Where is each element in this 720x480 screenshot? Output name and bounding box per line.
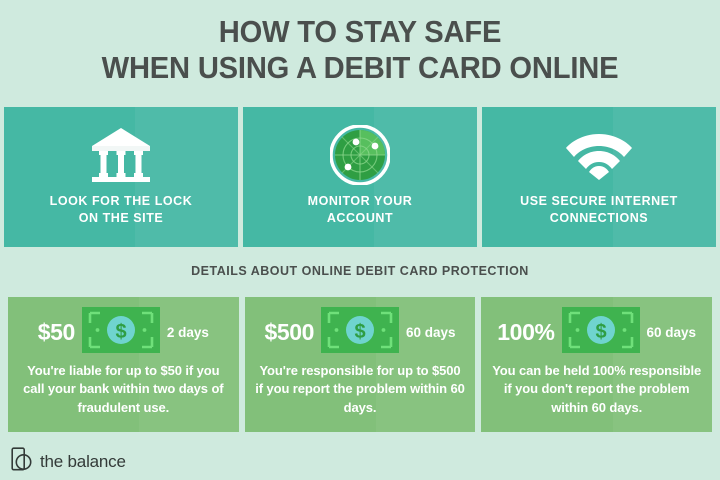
svg-text:$: $ <box>354 321 365 343</box>
tip-card-wifi-label: USE SECURE INTERNET CONNECTIONS <box>520 193 678 226</box>
detail-days: 60 days <box>647 325 697 340</box>
details-band: $50 $ 2 days You're lia <box>8 297 712 432</box>
detail-card-100: 100% $ 60 days You can <box>481 297 712 432</box>
dollar-bill-icon: $ <box>321 307 399 358</box>
the-balance-logo[interactable]: the balance <box>11 447 126 476</box>
dollar-bill-icon: $ <box>562 307 640 358</box>
title-line-1: HOW TO STAY SAFE <box>22 14 699 50</box>
detail-body-text: You're responsible for up to $500 if you… <box>255 362 466 417</box>
tip-label-line-1: USE SECURE INTERNET <box>520 193 678 210</box>
tip-card-lock: LOOK FOR THE LOCK ON THE SITE <box>4 107 238 247</box>
detail-days: 60 days <box>406 325 456 340</box>
tip-card-wifi: USE SECURE INTERNET CONNECTIONS <box>482 107 716 247</box>
detail-body-text: You're liable for up to $50 if you call … <box>18 362 229 417</box>
tip-label-line-2: CONNECTIONS <box>520 210 678 227</box>
tip-label-line-2: ON THE SITE <box>50 210 193 227</box>
tip-card-monitor: MONITOR YOUR ACCOUNT <box>243 107 477 247</box>
balance-logo-icon <box>11 447 33 476</box>
tip-card-lock-label: LOOK FOR THE LOCK ON THE SITE <box>50 193 193 226</box>
detail-amount: $500 <box>264 319 314 346</box>
bank-icon <box>90 123 152 187</box>
tip-card-monitor-label: MONITOR YOUR ACCOUNT <box>308 193 413 226</box>
wifi-icon <box>566 123 632 187</box>
detail-amount: 100% <box>497 319 554 346</box>
detail-amount-row: $50 $ 2 days <box>18 309 229 355</box>
radar-icon <box>330 123 390 187</box>
page-title: HOW TO STAY SAFE WHEN USING A DEBIT CARD… <box>0 14 720 86</box>
detail-card-50: $50 $ 2 days You're lia <box>8 297 239 432</box>
balance-logo-text: the balance <box>40 452 126 472</box>
detail-days: 2 days <box>167 325 209 340</box>
detail-amount-row: $500 $ 60 days <box>255 309 466 355</box>
tip-label-line-2: ACCOUNT <box>308 210 413 227</box>
svg-text:$: $ <box>115 321 126 343</box>
svg-text:$: $ <box>595 321 606 343</box>
detail-body-text: You can be held 100% responsible if you … <box>491 362 702 417</box>
title-line-2: WHEN USING A DEBIT CARD ONLINE <box>22 50 699 86</box>
tip-label-line-1: MONITOR YOUR <box>308 193 413 210</box>
dollar-bill-icon: $ <box>82 307 160 358</box>
details-subtitle: DETAILS ABOUT ONLINE DEBIT CARD PROTECTI… <box>0 264 720 278</box>
detail-card-500: $500 $ 60 days You're r <box>245 297 476 432</box>
tip-label-line-1: LOOK FOR THE LOCK <box>50 193 193 210</box>
infographic-page: HOW TO STAY SAFE WHEN USING A DEBIT CARD… <box>0 0 720 480</box>
detail-amount: $50 <box>38 319 75 346</box>
detail-amount-row: 100% $ 60 days <box>491 309 702 355</box>
tips-band: LOOK FOR THE LOCK ON THE SITE <box>4 107 716 247</box>
